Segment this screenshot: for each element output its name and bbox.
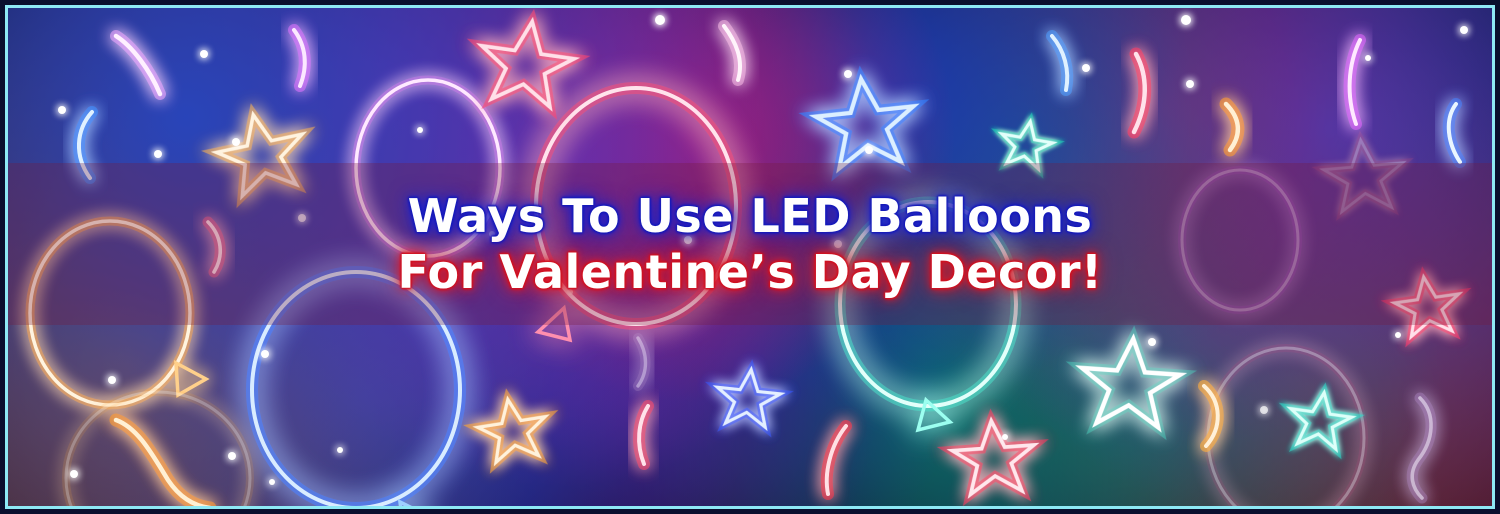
- star-pink-bottom: [951, 418, 1037, 495]
- star-orange-bottom: [474, 394, 551, 464]
- star-teal-bottomr: [1286, 388, 1355, 450]
- squiggle-magenta-top: [294, 30, 305, 86]
- balloon-orange-ghost: [66, 392, 250, 506]
- headline-line-1: Ways To Use LED Balloons: [408, 189, 1093, 243]
- star-pink-top: [475, 15, 579, 109]
- squiggle-magenta-right: [1350, 40, 1360, 124]
- squiggle-white-mid: [724, 26, 740, 80]
- squiggle-orange-bottoml: [116, 420, 210, 506]
- star-blue-bottom: [714, 366, 783, 428]
- star-blue-top: [812, 74, 919, 170]
- headline-line-2: For Valentine’s Day Decor!: [398, 245, 1103, 299]
- headline-block: Ways To Use LED Balloons For Valentine’s…: [8, 163, 1492, 325]
- star-white-bottom: [1078, 335, 1182, 428]
- neon-background: Ways To Use LED Balloons For Valentine’s…: [8, 8, 1492, 506]
- squiggle-white-far-right: [1449, 104, 1460, 162]
- squiggle-orange-right: [1226, 104, 1238, 150]
- squiggle-white-topleft: [116, 36, 160, 94]
- squiggle-white-bottomr: [1412, 398, 1431, 498]
- squiggle-red-bottom: [827, 426, 846, 494]
- neon-banner: Ways To Use LED Balloons For Valentine’s…: [0, 0, 1500, 514]
- squiggle-blue-topright: [1052, 36, 1067, 90]
- squiggle-pink-topright: [1134, 54, 1145, 132]
- squiggle-white-left-bottom: [638, 338, 646, 386]
- squiggle-pink-bottom: [639, 406, 648, 464]
